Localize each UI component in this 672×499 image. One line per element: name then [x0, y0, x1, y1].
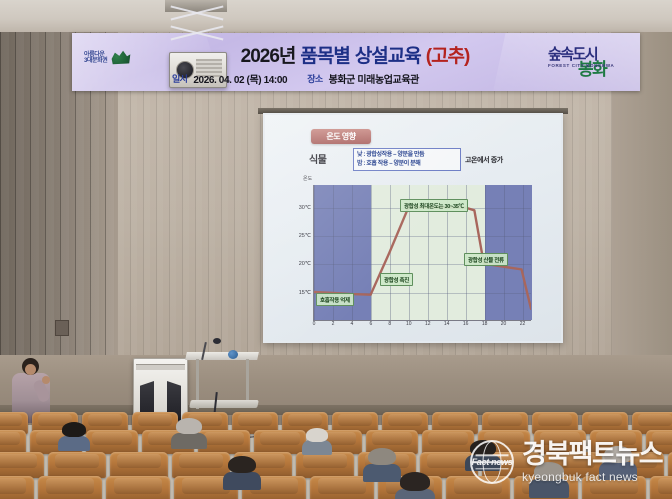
- chart-x-tick-label: 4: [351, 321, 354, 327]
- event-banner: 아름다운 3대문화권 2026년 품목별 상설교육 (고추) 일시 2026. …: [72, 33, 640, 91]
- slide-textbox: 낮 : 광합성작용 – 양분을 만듬 밤 : 호흡 작용 – 양분이 분해: [353, 148, 461, 171]
- banner-venue-value: 봉화군 미래농업교육관: [329, 71, 419, 86]
- banner-title: 2026년 품목별 상설교육 (고추): [160, 41, 550, 67]
- presenter-face: [25, 364, 36, 375]
- chart-x-tick-label: 20: [501, 321, 507, 327]
- audience-seat: [38, 476, 102, 499]
- blue-equipment-item: [228, 350, 238, 359]
- audience-head: [306, 428, 328, 442]
- audience-seat: [254, 430, 306, 454]
- audience-member: [400, 472, 430, 499]
- audience-member: [62, 422, 86, 448]
- audience-seat: [48, 452, 106, 478]
- audience-seat: [296, 452, 354, 478]
- audience-seat: [0, 452, 44, 478]
- audience-torso: [171, 433, 206, 450]
- chart-x-tick-label: 18: [482, 321, 488, 327]
- watermark-korean: 경북팩트뉴스: [522, 441, 662, 468]
- chart-annotation-photosynthesis-max-temp: 광합성 최대온도는 30~35℃: [400, 199, 468, 212]
- podium-top: [136, 364, 185, 370]
- audience-seat: [0, 476, 34, 499]
- banner-datetime-label: 일시: [172, 72, 187, 85]
- slide-side-word: 식물: [309, 151, 326, 166]
- right-logo-english: FOREST CITY BONGHWA: [548, 63, 614, 69]
- chart-y-tick-label: 30℃: [299, 205, 311, 211]
- banner-subline: 일시 2026. 04. 02 (목) 14:00 장소 봉화군 미래농업교육관: [172, 70, 547, 86]
- audience-seat: [106, 476, 170, 499]
- chart-x-tick-label: 16: [463, 321, 469, 327]
- audience-torso: [223, 472, 261, 490]
- left-logo-mark-icon: [109, 49, 131, 67]
- audience-torso: [302, 440, 332, 454]
- audience-seat: [422, 430, 474, 454]
- chart-x-tick-label: 12: [425, 321, 431, 327]
- slide-textbox-line-2: 밤 : 호흡 작용 – 양분이 분해: [357, 160, 460, 169]
- banner-datetime-value: 2026. 04. 02 (목) 14:00: [193, 71, 287, 86]
- banner-title-year: 2026년: [241, 41, 296, 68]
- audience-seat: [668, 452, 672, 478]
- chart-x-tick-label: 22: [520, 321, 526, 327]
- banner-title-program: 상설교육: [355, 41, 421, 68]
- watermark: Fact news 경북팩트뉴스 kyeongbuk fact news: [468, 433, 664, 491]
- audience-member: [176, 418, 202, 446]
- slide-content: 온도 영향 식물 낮 : 광합성작용 – 양분을 만듬 밤 : 호흡 작용 – …: [265, 115, 561, 341]
- chart-annotation-photosynthesis-promote: 광합성 촉진: [380, 273, 413, 286]
- audience-member: [306, 428, 328, 452]
- watermark-english: kyeongbuk fact news: [522, 471, 662, 483]
- audience-seat: [86, 430, 138, 454]
- wall-outlet-panel: [55, 320, 69, 336]
- slide-title-badge: 온도 영향: [311, 129, 371, 144]
- globe-icon-label: Fact news: [472, 457, 513, 467]
- audience-head: [368, 448, 396, 465]
- banner-title-category: 품목별: [300, 41, 349, 68]
- chart-y-tick-label: 15℃: [299, 290, 311, 296]
- banner-right-logo: 숲속도시 봉화 FOREST CITY BONGHWA: [544, 41, 632, 83]
- globe-icon: Fact news: [468, 438, 516, 486]
- chart-x-tick-label: 6: [369, 321, 372, 327]
- audience-head: [400, 472, 430, 491]
- temperature-chart: 024681012141618202230℃25℃20℃15℃광합성 최대온도는…: [313, 185, 531, 321]
- chart-x-tick-label: 2: [332, 321, 335, 327]
- chart-x-tick-label: 10: [406, 321, 412, 327]
- chart-x-tick-label: 8: [388, 321, 391, 327]
- audience-head: [176, 418, 202, 434]
- chart-y-tick-label: 20℃: [299, 261, 311, 267]
- slide-right-note: 고온에서 증가: [465, 155, 503, 165]
- photo-root: 아름다운 3대문화권 2026년 품목별 상설교육 (고추) 일시 2026. …: [0, 0, 672, 499]
- audience-seat: [0, 430, 26, 454]
- banner-left-logo: 아름다운 3대문화권: [84, 45, 142, 71]
- av-cart-base: [189, 400, 259, 408]
- chart-annotation-photosynthate-translocation: 광합성 산물 전류: [464, 253, 508, 266]
- left-logo-main-text: 3대문화권: [84, 58, 107, 64]
- chart-annotation-respiration-suppress: 호흡작용 억제: [316, 293, 354, 306]
- chart-y-tick-label: 25℃: [299, 233, 311, 239]
- banner-venue-label: 장소: [307, 72, 322, 85]
- audience-seat: [172, 452, 230, 478]
- audience-torso: [58, 436, 91, 452]
- slide-textbox-line-1: 낮 : 광합성작용 – 양분을 만듬: [357, 151, 460, 160]
- audience-member: [228, 456, 256, 486]
- audience-head: [228, 456, 256, 473]
- banner-title-crop: (고추): [426, 41, 470, 68]
- presenter-hand: [42, 376, 50, 384]
- chart-x-tick-label: 0: [313, 321, 316, 327]
- audience-head: [62, 422, 86, 437]
- chart-x-tick-label: 14: [444, 321, 450, 327]
- audience-torso: [363, 464, 401, 482]
- audience-member: [368, 448, 396, 478]
- audience-seat: [110, 452, 168, 478]
- ceiling: [0, 0, 672, 32]
- chart-y-axis-title: 온도: [303, 175, 312, 182]
- microphone-head-icon: [213, 338, 221, 344]
